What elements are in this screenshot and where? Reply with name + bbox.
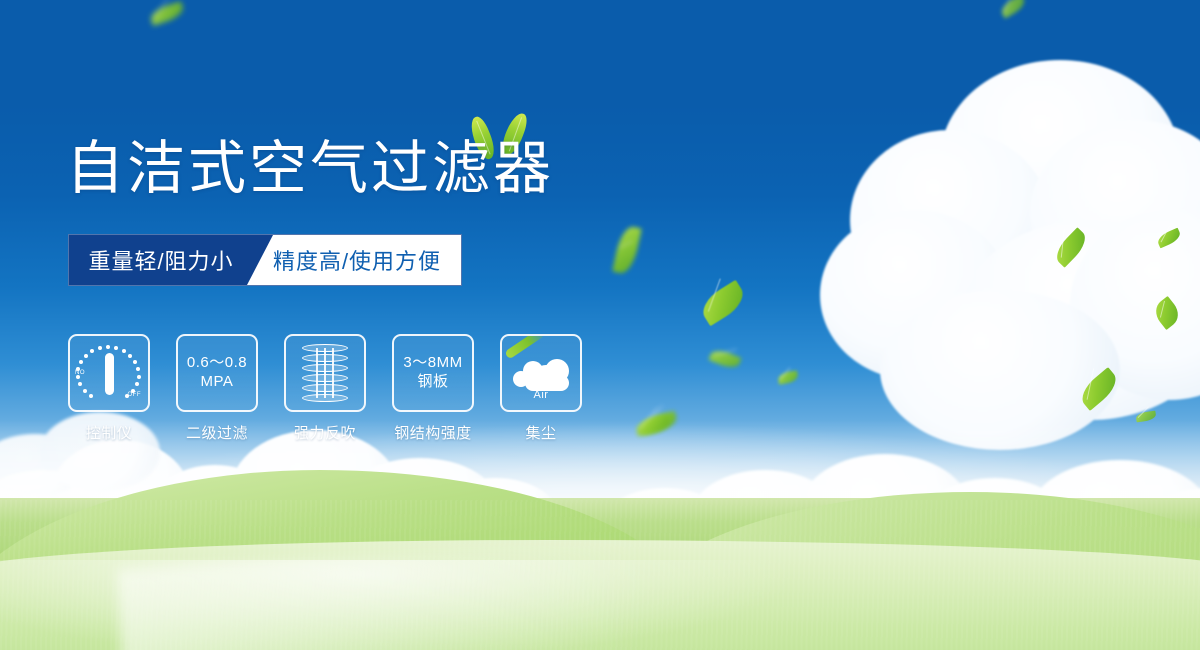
- feature-label: 强力反吹: [294, 422, 356, 443]
- gauge-label-no: NO: [75, 370, 85, 376]
- feature-label: 控制仪: [86, 422, 133, 443]
- leaf-decoration: [635, 415, 671, 437]
- leaf-decoration: [612, 224, 642, 275]
- steel-value-line2: 钢板: [417, 373, 448, 392]
- gauge-label-off: OFF: [128, 392, 142, 398]
- gauge-needle: [105, 353, 114, 395]
- leaf-decoration: [998, 0, 1027, 19]
- leaf-decoration: [777, 370, 799, 384]
- pressure-value-line1: 0.6～0.8: [187, 354, 247, 373]
- feature-icon-box: 3～8MM 钢板: [392, 334, 474, 412]
- feature-item-controller[interactable]: NO OFF 控制仪: [68, 334, 150, 443]
- feature-list: NO OFF 控制仪 0.6～0.8 MPA 二级过滤: [68, 334, 582, 443]
- feature-item-steel-strength[interactable]: 3～8MM 钢板 钢结构强度: [392, 334, 474, 443]
- leaf-decoration: [149, 1, 186, 26]
- subtitle-right-text: 精度高/使用方便: [253, 235, 461, 285]
- filter-coil-icon: [302, 344, 348, 402]
- feature-icon-box: 0.6～0.8 MPA: [176, 334, 258, 412]
- feature-icon-box: [284, 334, 366, 412]
- feature-label: 二级过滤: [186, 422, 248, 443]
- leaf-decoration: [708, 347, 741, 371]
- banner-stage: 自洁式空气过滤器 重量轻/阻力小 精度高/使用方便: [0, 0, 1200, 650]
- feature-item-backblow[interactable]: 强力反吹: [284, 334, 366, 443]
- subtitle-bar: 重量轻/阻力小 精度高/使用方便: [68, 234, 462, 286]
- leaf-decoration: [697, 280, 750, 326]
- gauge-icon: NO OFF: [76, 344, 142, 402]
- feature-icon-box: Air: [500, 334, 582, 412]
- feature-label: 钢结构强度: [394, 422, 472, 443]
- feature-icon-box: NO OFF: [68, 334, 150, 412]
- pressure-value-line2: MPA: [201, 373, 234, 392]
- green-streak-icon: [504, 334, 546, 360]
- feature-item-secondary-filter[interactable]: 0.6～0.8 MPA 二级过滤: [176, 334, 258, 443]
- air-cloud-icon: [511, 345, 571, 395]
- steel-value-line1: 3～8MM: [403, 354, 462, 373]
- feature-item-dust-collection[interactable]: Air 集尘: [500, 334, 582, 443]
- subtitle-left-text: 重量轻/阻力小: [69, 235, 253, 285]
- feature-label: 集尘: [525, 422, 556, 443]
- cloud-large-right: [820, 60, 1200, 440]
- page-title: 自洁式空气过滤器: [66, 140, 554, 198]
